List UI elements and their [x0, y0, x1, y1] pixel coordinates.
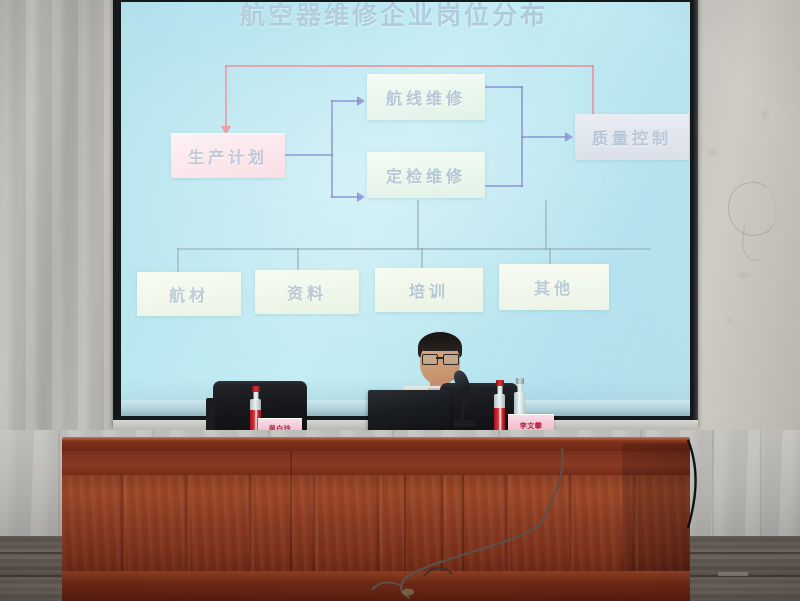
- support-bus-stem-a: [417, 200, 419, 250]
- podium-front-panel: [62, 475, 690, 573]
- office-chair-left-arm: [206, 398, 215, 434]
- plan-split-vertical: [331, 100, 333, 198]
- node-documents: 资料: [255, 270, 359, 314]
- podium-upper-band: [62, 451, 690, 477]
- sched-maint-arrowhead-icon: [357, 192, 365, 202]
- node-training-label: 培训: [409, 278, 449, 302]
- sched-maint-out: [485, 185, 523, 187]
- node-line-maintenance-label: 航线维修: [386, 85, 466, 109]
- podium-plinth: [62, 585, 690, 601]
- node-production-plan-label: 生产计划: [188, 144, 268, 168]
- floor-plate-icon: [718, 572, 748, 576]
- support-drop-materials: [177, 248, 179, 274]
- node-other: 其他: [499, 264, 609, 310]
- presenter-glasses-bridge: [436, 357, 443, 359]
- node-training: 培训: [375, 268, 483, 312]
- presenter-hair-front: [419, 336, 461, 351]
- plan-to-line-maint: [331, 100, 359, 102]
- plan-to-sched-maint: [331, 196, 359, 198]
- node-production-plan: 生产计划: [171, 133, 285, 178]
- node-scheduled-maintenance-label: 定检维修: [386, 163, 466, 187]
- microphone-base: [453, 420, 475, 427]
- node-materials-label: 航材: [169, 282, 209, 306]
- quality-arrowhead-icon: [565, 132, 573, 142]
- plan-out-line: [285, 154, 333, 156]
- feedback-line-horizontal: [225, 65, 594, 67]
- support-bus-stem-b: [545, 200, 547, 250]
- line-maint-arrowhead-icon: [357, 96, 365, 106]
- presenter-glasses-right-lens: [443, 354, 459, 365]
- merge-to-quality: [521, 136, 567, 138]
- presenter-glasses-left-lens: [422, 354, 438, 365]
- node-line-maintenance: 航线维修: [367, 74, 485, 120]
- node-documents-label: 资料: [287, 280, 327, 304]
- feedback-line-right-down: [592, 65, 594, 115]
- node-quality-control: 质量控制: [575, 114, 689, 160]
- lecture-hall-photo: 航空器维修企业岗位分布 生产计划 航线维修: [0, 0, 800, 601]
- node-materials: 航材: [137, 272, 241, 316]
- slide-title: 航空器维修企业岗位分布: [199, 2, 589, 32]
- node-quality-control-label: 质量控制: [592, 125, 672, 149]
- node-scheduled-maintenance: 定检维修: [367, 152, 485, 198]
- support-bus-horizontal: [177, 248, 651, 250]
- line-maint-out: [485, 86, 523, 88]
- left-curtain: [0, 0, 126, 452]
- node-other-label: 其他: [534, 275, 574, 299]
- podium-desk: [62, 437, 690, 601]
- feedback-line-left-down: [225, 65, 227, 127]
